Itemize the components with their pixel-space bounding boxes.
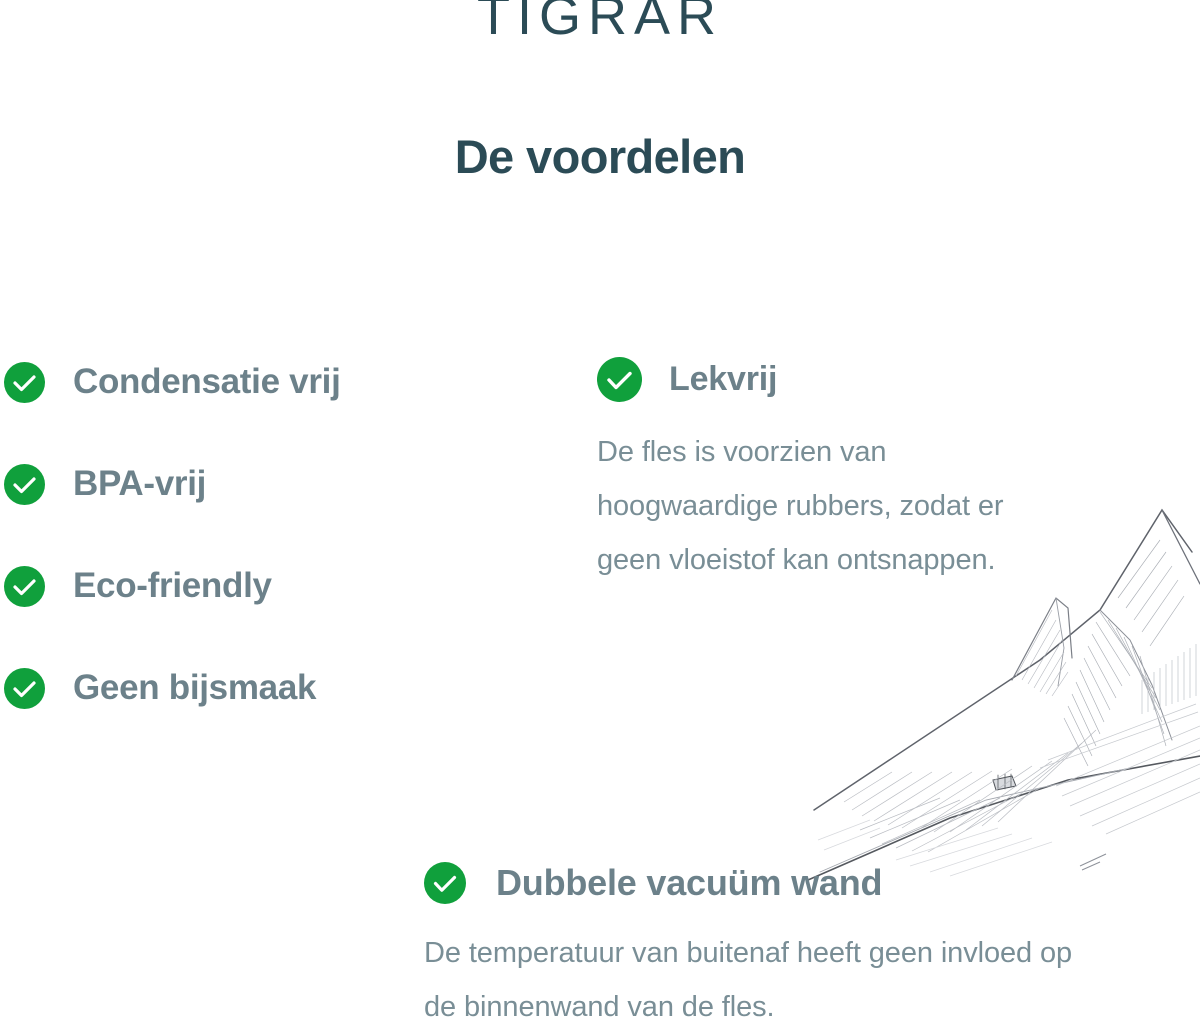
feature-block-lekvrij: Lekvrij De fles is voorzien van hoogwaar… bbox=[597, 357, 1077, 587]
list-item: BPA-vrij bbox=[4, 460, 474, 508]
brand-logo: TIGRAR bbox=[0, 0, 1200, 45]
check-circle-icon bbox=[597, 357, 642, 402]
feature-block-title: Lekvrij bbox=[669, 360, 777, 399]
feature-block-header: Dubbele vacuüm wand bbox=[424, 862, 1124, 904]
feature-label: Geen bijsmaak bbox=[73, 668, 316, 708]
left-feature-list: Condensatie vrij BPA-vrij Eco-friendly bbox=[4, 358, 474, 766]
feature-label: Condensatie vrij bbox=[73, 362, 341, 402]
check-circle-icon bbox=[424, 862, 466, 904]
feature-label: Eco-friendly bbox=[73, 566, 272, 606]
product-benefits-page: TIGRAR De voordelen Condensatie vrij BPA… bbox=[0, 0, 1200, 1035]
feature-block-header: Lekvrij bbox=[597, 357, 1077, 402]
feature-block-title: Dubbele vacuüm wand bbox=[496, 862, 882, 904]
page-title: De voordelen bbox=[0, 131, 1200, 183]
list-item: Geen bijsmaak bbox=[4, 664, 474, 712]
feature-block-body: De fles is voorzien van hoogwaardige rub… bbox=[597, 425, 1067, 587]
check-circle-icon bbox=[4, 668, 45, 709]
list-item: Condensatie vrij bbox=[4, 358, 474, 406]
check-circle-icon bbox=[4, 464, 45, 505]
check-circle-icon bbox=[4, 362, 45, 403]
feature-block-body: De temperatuur van buitenaf heeft geen i… bbox=[424, 926, 1084, 1034]
feature-block-dubbele-vacuum-wand: Dubbele vacuüm wand De temperatuur van b… bbox=[424, 862, 1124, 1034]
list-item: Eco-friendly bbox=[4, 562, 474, 610]
feature-label: BPA-vrij bbox=[73, 464, 206, 504]
check-circle-icon bbox=[4, 566, 45, 607]
